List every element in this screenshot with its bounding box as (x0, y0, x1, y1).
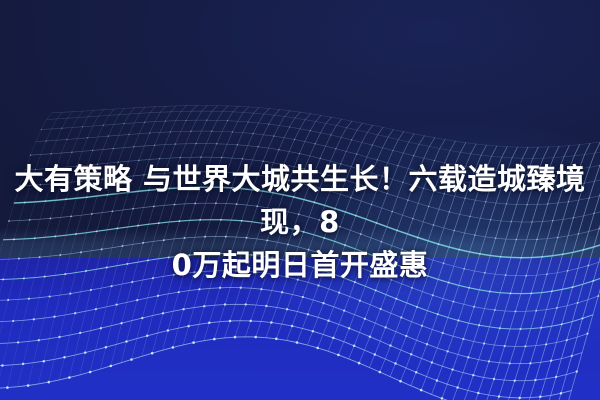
promo-banner: 大有策略 与世界大城共生长！六载造城臻境现，8 0万起明日首开盛惠 (0, 0, 600, 400)
headline-line-1: 大有策略 与世界大城共生长！六载造城臻境现，8 (6, 158, 594, 244)
headline-line-2: 0万起明日首开盛惠 (6, 244, 594, 287)
headline: 大有策略 与世界大城共生长！六载造城臻境现，8 0万起明日首开盛惠 (0, 158, 600, 287)
